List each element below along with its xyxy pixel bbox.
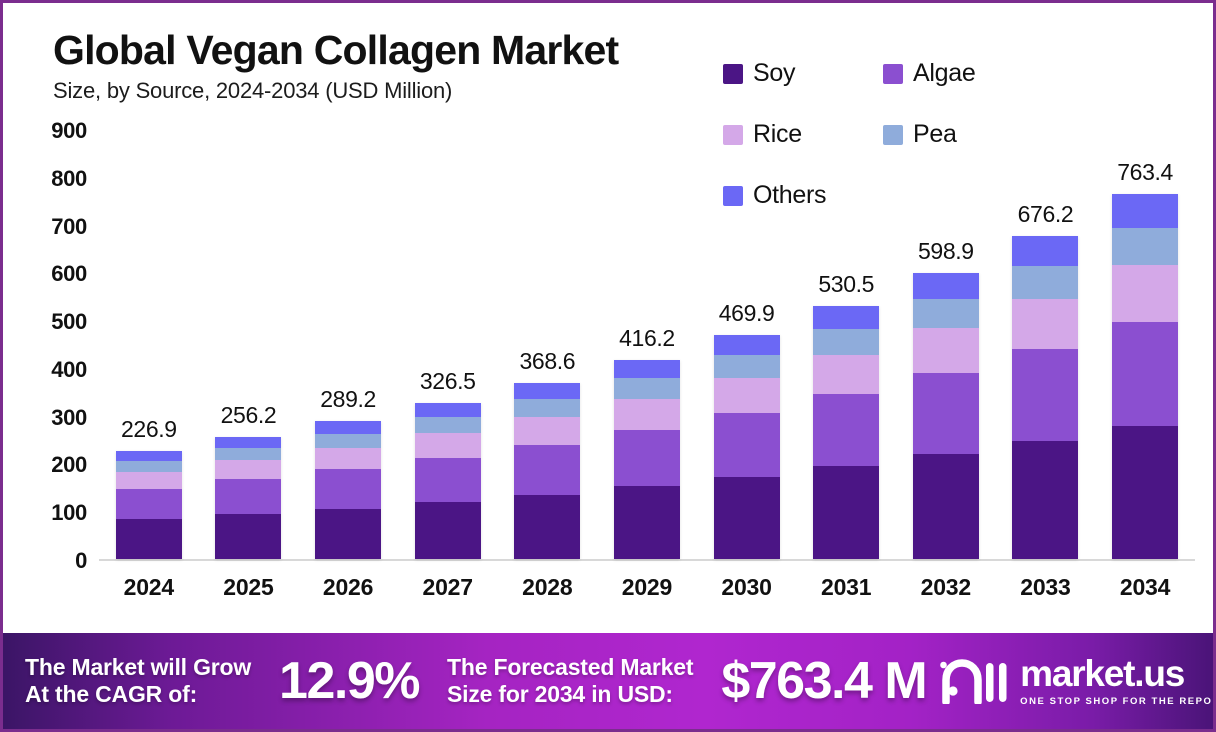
y-axis-tick-0: 0 — [75, 548, 87, 574]
x-axis-tick-2030: 2030 — [714, 574, 780, 601]
bar-segment-pea[interactable] — [714, 355, 780, 378]
brand-logo[interactable]: market.us ONE STOP SHOP FOR THE REPORTS — [940, 655, 1216, 707]
bar-stack[interactable] — [714, 335, 780, 560]
page-subtitle: Size, by Source, 2024-2034 (USD Million) — [53, 78, 618, 104]
forecast-caption: The Forecasted Market Size for 2034 in U… — [447, 654, 693, 708]
cagr-value: 12.9% — [279, 651, 419, 711]
bar-segment-rice[interactable] — [1012, 299, 1078, 349]
bar-segment-others[interactable] — [714, 335, 780, 356]
x-axis-tick-2026: 2026 — [315, 574, 381, 601]
bar-stack[interactable] — [215, 437, 281, 559]
bar-segment-rice[interactable] — [1112, 265, 1178, 322]
bar-stack[interactable] — [813, 306, 879, 559]
bar-segment-soy[interactable] — [514, 495, 580, 559]
bar-value-label: 326.5 — [420, 368, 476, 395]
bar-segment-others[interactable] — [116, 451, 182, 461]
bar-stack[interactable] — [1012, 236, 1078, 559]
bar-segment-soy[interactable] — [714, 477, 780, 559]
bar-value-label: 256.2 — [221, 402, 277, 429]
bar-segment-others[interactable] — [514, 383, 580, 399]
bar-stack[interactable] — [315, 421, 381, 559]
bar-segment-rice[interactable] — [315, 448, 381, 469]
bar-segment-others[interactable] — [315, 421, 381, 434]
bar-value-label: 763.4 — [1117, 159, 1173, 186]
bar-segment-algae[interactable] — [913, 373, 979, 455]
x-axis-tick-2028: 2028 — [514, 574, 580, 601]
x-axis-tick-2033: 2033 — [1012, 574, 1078, 601]
y-axis-tick-400: 400 — [51, 357, 87, 383]
x-axis-tick-2034: 2034 — [1112, 574, 1178, 601]
y-axis-tick-700: 700 — [51, 214, 87, 240]
bar-stack[interactable] — [514, 383, 580, 559]
bar-segment-rice[interactable] — [913, 328, 979, 373]
bar-segment-algae[interactable] — [415, 458, 481, 502]
bar-value-label: 416.2 — [619, 325, 675, 352]
bar-column-2025[interactable]: 256.2 — [215, 131, 281, 559]
bar-segment-rice[interactable] — [614, 399, 680, 430]
bar-column-2027[interactable]: 326.5 — [415, 131, 481, 559]
x-axis-tick-2024: 2024 — [116, 574, 182, 601]
bar-column-2032[interactable]: 598.9 — [913, 131, 979, 559]
legend-item-soy[interactable]: Soy — [723, 43, 883, 104]
bar-segment-soy[interactable] — [813, 466, 879, 559]
bar-stack[interactable] — [1112, 194, 1178, 559]
bar-segment-others[interactable] — [1112, 194, 1178, 227]
bar-segment-algae[interactable] — [813, 394, 879, 466]
bar-segment-soy[interactable] — [215, 514, 281, 559]
market-us-logo-icon — [940, 658, 1010, 704]
bar-segment-others[interactable] — [215, 437, 281, 448]
bar-value-label: 469.9 — [719, 300, 775, 327]
bar-column-2031[interactable]: 530.5 — [813, 131, 879, 559]
bar-segment-algae[interactable] — [215, 479, 281, 514]
forecast-caption-line1: The Forecasted Market — [447, 654, 693, 681]
bar-segment-soy[interactable] — [913, 454, 979, 559]
legend-item-label: Algae — [913, 59, 975, 88]
bar-segment-soy[interactable] — [415, 502, 481, 559]
bar-segment-algae[interactable] — [714, 413, 780, 477]
y-axis: 9008007006005004003002001000 — [19, 131, 87, 561]
chart-header: Global Vegan Collagen Market Size, by So… — [3, 3, 1213, 138]
y-axis-tick-600: 600 — [51, 261, 87, 287]
bar-stack[interactable] — [614, 360, 680, 559]
title-block: Global Vegan Collagen Market Size, by So… — [53, 21, 618, 104]
bar-segment-pea[interactable] — [1112, 228, 1178, 265]
legend-swatch-icon — [883, 64, 903, 84]
bar-segment-others[interactable] — [614, 360, 680, 378]
bar-segment-pea[interactable] — [813, 329, 879, 355]
infographic-container: Global Vegan Collagen Market Size, by So… — [0, 0, 1216, 732]
forecast-caption-line2: Size for 2034 in USD: — [447, 681, 693, 708]
bar-column-2024[interactable]: 226.9 — [116, 131, 182, 559]
bar-segment-pea[interactable] — [1012, 266, 1078, 299]
brand-name: market.us — [1020, 655, 1216, 692]
x-axis-tick-2025: 2025 — [215, 574, 281, 601]
bar-segment-soy[interactable] — [614, 486, 680, 559]
y-axis-tick-500: 500 — [51, 309, 87, 335]
bar-segment-pea[interactable] — [415, 417, 481, 433]
y-axis-tick-300: 300 — [51, 405, 87, 431]
y-axis-tick-900: 900 — [51, 118, 87, 144]
x-axis-tick-2032: 2032 — [913, 574, 979, 601]
bar-segment-rice[interactable] — [415, 433, 481, 457]
cagr-caption: The Market will Grow At the CAGR of: — [25, 654, 251, 708]
bar-segment-rice[interactable] — [714, 378, 780, 413]
bars-area: 226.9256.2289.2326.5368.6416.2469.9530.5… — [99, 131, 1195, 561]
bar-value-label: 226.9 — [121, 416, 177, 443]
bar-segment-rice[interactable] — [215, 460, 281, 479]
bar-segment-algae[interactable] — [514, 445, 580, 495]
x-axis-tick-2027: 2027 — [415, 574, 481, 601]
legend-item-algae[interactable]: Algae — [883, 43, 1043, 104]
bar-segment-pea[interactable] — [514, 399, 580, 417]
bar-segment-rice[interactable] — [813, 355, 879, 394]
bar-column-2029[interactable]: 416.2 — [614, 131, 680, 559]
bar-segment-others[interactable] — [913, 273, 979, 299]
bar-column-2033[interactable]: 676.2 — [1012, 131, 1078, 559]
bar-segment-others[interactable] — [1012, 236, 1078, 266]
bar-segment-algae[interactable] — [614, 430, 680, 487]
legend-item-label: Soy — [753, 59, 795, 88]
bar-segment-algae[interactable] — [1012, 349, 1078, 441]
bar-segment-pea[interactable] — [614, 378, 680, 398]
bar-segment-algae[interactable] — [315, 469, 381, 508]
bar-value-label: 289.2 — [320, 386, 376, 413]
bar-column-2026[interactable]: 289.2 — [315, 131, 381, 559]
bar-segment-others[interactable] — [415, 403, 481, 417]
page-title: Global Vegan Collagen Market — [53, 29, 618, 72]
brand-wordmark: market.us ONE STOP SHOP FOR THE REPORTS — [1020, 655, 1216, 707]
bar-segment-soy[interactable] — [116, 519, 182, 559]
y-axis-tick-100: 100 — [51, 500, 87, 526]
bar-segment-pea[interactable] — [215, 448, 281, 461]
plot-area: 9008007006005004003002001000 226.9256.22… — [3, 131, 1213, 621]
cagr-caption-line1: The Market will Grow — [25, 654, 251, 681]
bar-segment-pea[interactable] — [116, 461, 182, 472]
bar-stack[interactable] — [415, 403, 481, 559]
bar-value-label: 676.2 — [1018, 201, 1074, 228]
y-axis-tick-200: 200 — [51, 452, 87, 478]
bar-column-2034[interactable]: 763.4 — [1112, 131, 1178, 559]
bar-segment-algae[interactable] — [116, 489, 182, 520]
bar-segment-soy[interactable] — [1112, 426, 1178, 559]
bar-column-2030[interactable]: 469.9 — [714, 131, 780, 559]
cagr-caption-line2: At the CAGR of: — [25, 681, 251, 708]
forecast-value: $763.4 M — [721, 651, 926, 711]
x-axis-tick-2029: 2029 — [614, 574, 680, 601]
y-axis-tick-800: 800 — [51, 166, 87, 192]
bar-segment-pea[interactable] — [913, 299, 979, 328]
bar-value-label: 598.9 — [918, 238, 974, 265]
bar-column-2028[interactable]: 368.6 — [514, 131, 580, 559]
bar-stack[interactable] — [116, 451, 182, 559]
bar-segment-soy[interactable] — [1012, 441, 1078, 559]
x-axis: 2024202520262027202820292030203120322033… — [99, 567, 1195, 607]
legend-swatch-icon — [723, 64, 743, 84]
x-axis-tick-2031: 2031 — [813, 574, 879, 601]
summary-banner: The Market will Grow At the CAGR of: 12.… — [3, 633, 1213, 729]
bar-segment-others[interactable] — [813, 306, 879, 329]
bar-segment-rice[interactable] — [116, 472, 182, 489]
brand-tagline: ONE STOP SHOP FOR THE REPORTS — [1020, 697, 1216, 707]
bar-value-label: 530.5 — [818, 271, 874, 298]
bar-segment-pea[interactable] — [315, 434, 381, 448]
bar-segment-soy[interactable] — [315, 509, 381, 560]
bar-segment-rice[interactable] — [514, 417, 580, 444]
bar-segment-algae[interactable] — [1112, 322, 1178, 426]
bar-value-label: 368.6 — [520, 348, 576, 375]
bar-stack[interactable] — [913, 273, 979, 559]
